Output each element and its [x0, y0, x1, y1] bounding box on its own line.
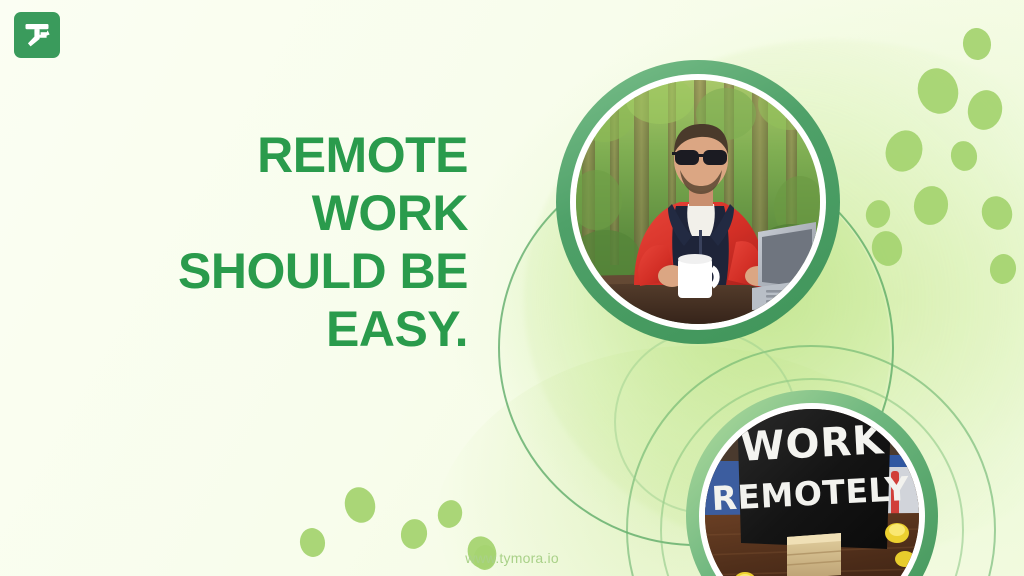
pushpin-right: [885, 523, 909, 543]
brand-logo[interactable]: [14, 12, 60, 58]
photo-image-area: [576, 80, 820, 324]
page-title: REMOTE WORK SHOULD BE EASY.: [90, 126, 468, 358]
tymora-arrow-logo-icon: [22, 20, 52, 50]
man-working-on-laptop-in-forest-photo: [556, 60, 840, 344]
marketing-slide: REMOTE WORK SHOULD BE EASY.: [0, 0, 1024, 576]
chalk-text-line-1: WORK: [739, 417, 886, 471]
website-url[interactable]: www.tymora.io: [0, 550, 1024, 566]
